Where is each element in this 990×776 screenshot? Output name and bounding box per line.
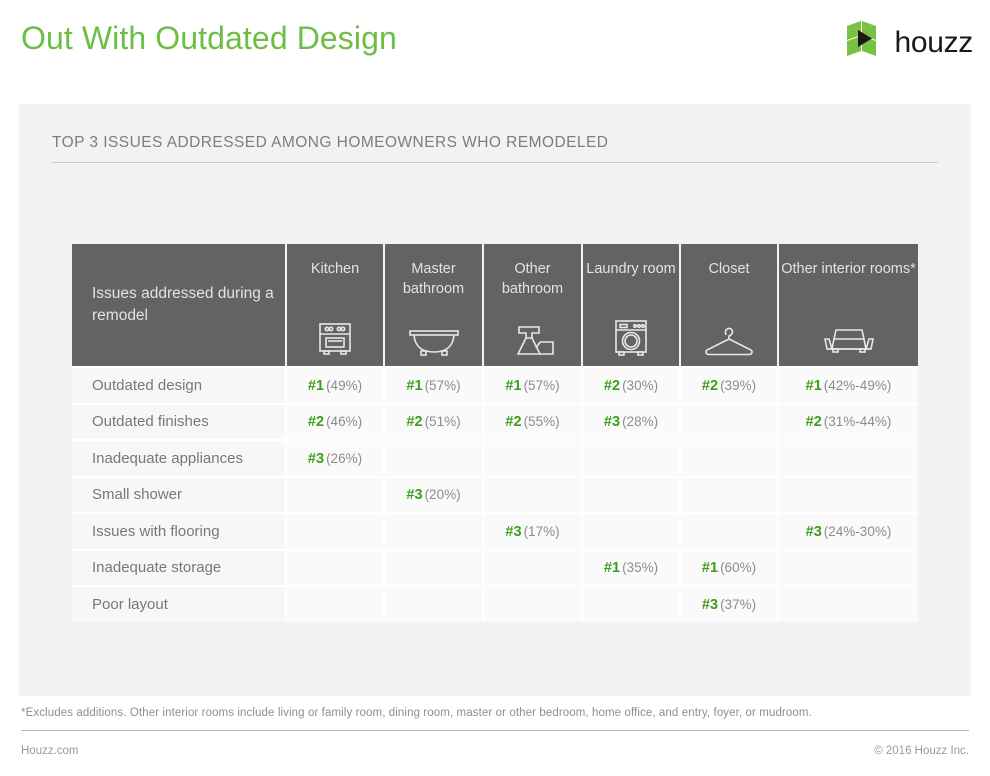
percent-value: (24%-30%) (824, 524, 892, 539)
data-cell (779, 587, 918, 622)
bathtub-icon (408, 325, 460, 357)
data-cell: #2(30%) (583, 366, 681, 405)
page-title: Out With Outdated Design (21, 20, 397, 57)
rank-value: #1 (505, 378, 521, 394)
data-cell (287, 587, 385, 622)
data-cell (484, 551, 583, 588)
table-row: Issues with flooring#3(17%)#3(24%-30%) (72, 514, 918, 551)
table-row: Inadequate storage#1(35%)#1(60%) (72, 551, 918, 588)
data-cell (385, 587, 484, 622)
column-label: Laundry room (586, 260, 675, 280)
section-divider (52, 162, 938, 163)
data-cell: #3(28%) (583, 405, 681, 442)
column-header-master-bathroom: Master bathroom (385, 244, 484, 366)
column-label: Other interior rooms* (781, 260, 916, 280)
houzz-wordmark: houzz (894, 28, 973, 58)
data-cell: #3(20%) (385, 478, 484, 515)
issue-label: Outdated design (72, 366, 287, 405)
issues-table-body: Outdated design#1(49%)#1(57%)#1(57%)#2(3… (72, 366, 918, 622)
hanger-icon (703, 325, 755, 357)
rank-value: #2 (308, 414, 324, 430)
percent-value: (49%) (326, 378, 362, 393)
rank-value: #1 (806, 378, 822, 394)
data-cell: #1(57%) (484, 366, 583, 405)
section-title: TOP 3 ISSUES ADDRESSED AMONG HOMEOWNERS … (52, 134, 608, 152)
rank-value: #1 (308, 378, 324, 394)
percent-value: (26%) (326, 451, 362, 466)
column-label: Other bathroom (484, 260, 581, 299)
data-cell (681, 405, 779, 442)
percent-value: (42%-49%) (824, 378, 892, 393)
column-label: Closet (708, 260, 749, 280)
data-cell: #2(51%) (385, 405, 484, 442)
rank-value: #1 (604, 560, 620, 576)
rank-value: #2 (505, 414, 521, 430)
page-header: Out With Outdated Design houzz (0, 0, 990, 96)
sink-icon (509, 323, 557, 357)
data-cell: #2(46%) (287, 405, 385, 442)
sofa-icon (821, 327, 877, 357)
column-header-other-bathroom: Other bathroom (484, 244, 583, 366)
footer-divider (21, 730, 969, 731)
percent-value: (57%) (425, 378, 461, 393)
data-cell (287, 514, 385, 551)
percent-value: (17%) (524, 524, 560, 539)
table-row: Small shower#3(20%) (72, 478, 918, 515)
issue-label: Outdated finishes (72, 405, 287, 442)
data-cell (681, 514, 779, 551)
data-cell: #2(31%-44%) (779, 405, 918, 442)
data-cell (583, 478, 681, 515)
houzz-logo: houzz (845, 20, 973, 63)
data-cell (484, 478, 583, 515)
rank-value: #3 (505, 524, 521, 540)
percent-value: (60%) (720, 560, 756, 575)
percent-value: (46%) (326, 414, 362, 429)
data-cell: #2(55%) (484, 405, 583, 442)
data-cell (583, 587, 681, 622)
percent-value: (28%) (622, 414, 658, 429)
rank-value: #2 (406, 414, 422, 430)
data-cell: #1(42%-49%) (779, 366, 918, 405)
issue-label: Issues with flooring (72, 514, 287, 551)
data-cell: #3(26%) (287, 441, 385, 478)
rank-value: #2 (702, 378, 718, 394)
data-cell (287, 478, 385, 515)
issues-table: Issues addressed during a remodel Kitche… (72, 244, 918, 622)
data-cell: #3(17%) (484, 514, 583, 551)
data-cell: #3(24%-30%) (779, 514, 918, 551)
percent-value: (37%) (720, 597, 756, 612)
data-cell (779, 441, 918, 478)
data-cell (681, 441, 779, 478)
data-cell (583, 441, 681, 478)
table-row: Inadequate appliances#3(26%) (72, 441, 918, 478)
percent-value: (51%) (425, 414, 461, 429)
data-cell: #1(57%) (385, 366, 484, 405)
data-cell (385, 514, 484, 551)
column-header-kitchen: Kitchen (287, 244, 385, 366)
column-label: Kitchen (311, 260, 359, 280)
column-label: Master bathroom (385, 260, 482, 299)
data-cell: #3(37%) (681, 587, 779, 622)
column-header-other-interior-rooms: Other interior rooms* (779, 244, 918, 366)
column-header-laundry-room: Laundry room (583, 244, 681, 366)
rank-value: #3 (308, 451, 324, 467)
footer-site: Houzz.com (21, 745, 79, 757)
table-row: Outdated design#1(49%)#1(57%)#1(57%)#2(3… (72, 366, 918, 405)
data-cell: #1(49%) (287, 366, 385, 405)
rank-value: #1 (702, 560, 718, 576)
data-cell: #2(39%) (681, 366, 779, 405)
footnote: *Excludes additions. Other interior room… (21, 707, 812, 719)
rank-value: #2 (806, 414, 822, 430)
rank-value: #1 (406, 378, 422, 394)
issue-label: Inadequate appliances (72, 441, 287, 478)
column-header-issues: Issues addressed during a remodel (72, 244, 287, 366)
rank-value: #3 (806, 524, 822, 540)
data-cell (583, 514, 681, 551)
percent-value: (55%) (524, 414, 560, 429)
houzz-logo-mark-icon (845, 20, 885, 63)
issue-label: Poor layout (72, 587, 287, 622)
issue-label: Inadequate storage (72, 551, 287, 588)
percent-value: (39%) (720, 378, 756, 393)
rank-value: #3 (406, 487, 422, 503)
data-cell (385, 551, 484, 588)
percent-value: (57%) (524, 378, 560, 393)
data-cell (385, 441, 484, 478)
column-header-closet: Closet (681, 244, 779, 366)
percent-value: (31%-44%) (824, 414, 892, 429)
stove-icon (316, 321, 354, 357)
data-cell (287, 551, 385, 588)
data-cell (681, 478, 779, 515)
rank-value: #3 (702, 597, 718, 613)
footer-copyright: © 2016 Houzz Inc. (874, 745, 969, 757)
data-cell (779, 478, 918, 515)
percent-value: (30%) (622, 378, 658, 393)
data-cell: #1(60%) (681, 551, 779, 588)
data-cell: #1(35%) (583, 551, 681, 588)
issue-label: Small shower (72, 478, 287, 515)
washing-machine-icon (612, 319, 650, 357)
rank-value: #2 (604, 378, 620, 394)
data-cell (779, 551, 918, 588)
table-row: Outdated finishes#2(46%)#2(51%)#2(55%)#3… (72, 405, 918, 442)
rank-value: #3 (604, 414, 620, 430)
content-panel: TOP 3 ISSUES ADDRESSED AMONG HOMEOWNERS … (19, 104, 971, 696)
percent-value: (35%) (622, 560, 658, 575)
percent-value: (20%) (425, 487, 461, 502)
table-header-row: Issues addressed during a remodel Kitche… (72, 244, 918, 366)
data-cell (484, 441, 583, 478)
data-cell (484, 587, 583, 622)
table-row: Poor layout#3(37%) (72, 587, 918, 622)
